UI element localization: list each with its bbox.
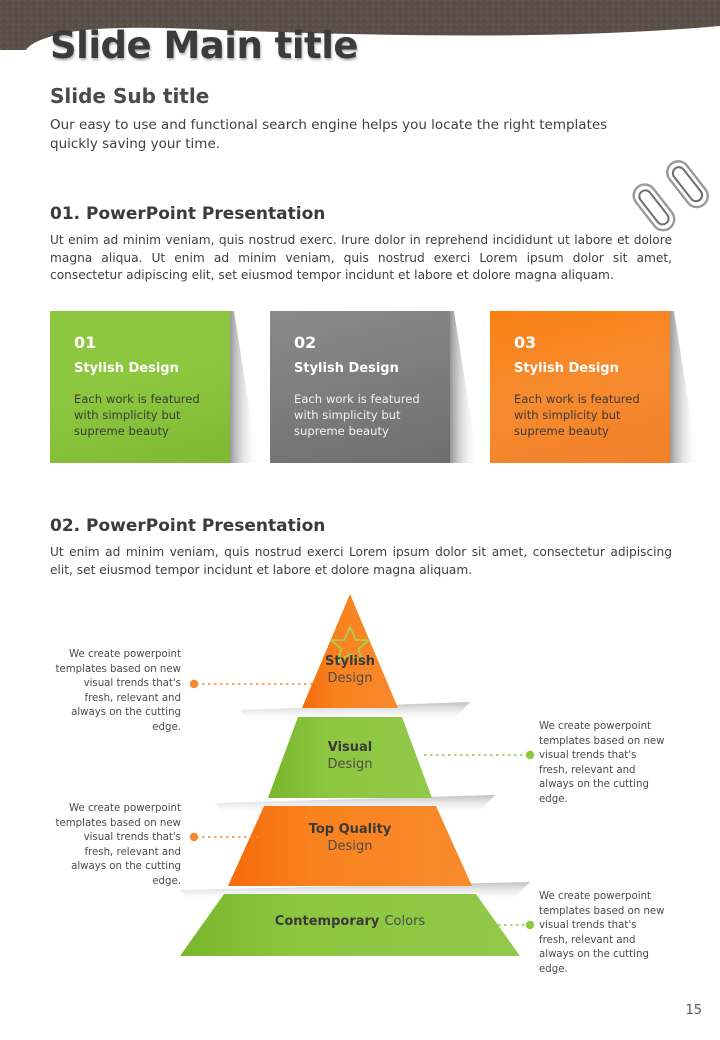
card-title: Stylish Design xyxy=(74,362,230,375)
card-body: 01 Stylish Design Each work is featured … xyxy=(50,311,230,463)
pyramid-tier-2 xyxy=(228,806,472,886)
pyramid-callout-0: We create powerpoint templates based on … xyxy=(53,648,181,735)
card-shadow-flap xyxy=(448,311,484,463)
card-number: 01 xyxy=(74,335,230,351)
intro-paragraph: Our easy to use and functional search en… xyxy=(50,116,630,154)
pyramid-callout-2: We create powerpoint templates based on … xyxy=(53,802,181,889)
paperclip-icon xyxy=(610,145,720,235)
section-body-01: Ut enim ad minim veniam, quis nostrud ex… xyxy=(50,232,672,285)
section-heading-02: 02. PowerPoint Presentation xyxy=(50,516,325,536)
card-title: Stylish Design xyxy=(294,362,450,375)
feature-card-01[interactable]: 01 Stylish Design Each work is featured … xyxy=(50,311,230,463)
feature-card-02[interactable]: 02 Stylish Design Each work is featured … xyxy=(270,311,450,463)
card-body: 03 Stylish Design Each work is featured … xyxy=(490,311,670,463)
page-number: 15 xyxy=(685,1003,702,1018)
card-text: Each work is featured with simplicity bu… xyxy=(74,391,204,439)
feature-card-list: 01 Stylish Design Each work is featured … xyxy=(50,311,672,463)
pyramid-callout-1: We create powerpoint templates based on … xyxy=(539,720,667,807)
pyramid-tier-3 xyxy=(180,894,520,956)
card-text: Each work is featured with simplicity bu… xyxy=(294,391,424,439)
page-title: Slide Main title xyxy=(50,24,358,67)
card-number: 03 xyxy=(514,335,670,351)
pyramid-tier-0 xyxy=(302,594,398,708)
card-title: Stylish Design xyxy=(514,362,670,375)
pyramid-tier-1 xyxy=(268,717,432,798)
slide: Slide Main title Slide Sub title Our eas… xyxy=(0,0,720,1040)
feature-card-03[interactable]: 03 Stylish Design Each work is featured … xyxy=(490,311,670,463)
pyramid-callout-3: We create powerpoint templates based on … xyxy=(539,890,667,977)
section-body-02: Ut enim ad minim veniam, quis nostrud ex… xyxy=(50,544,672,579)
page-subtitle: Slide Sub title xyxy=(50,84,209,108)
section-heading-01: 01. PowerPoint Presentation xyxy=(50,204,325,224)
card-shadow-flap xyxy=(228,311,264,463)
card-shadow-flap xyxy=(668,311,704,463)
card-text: Each work is featured with simplicity bu… xyxy=(514,391,644,439)
card-number: 02 xyxy=(294,335,450,351)
card-body: 02 Stylish Design Each work is featured … xyxy=(270,311,450,463)
